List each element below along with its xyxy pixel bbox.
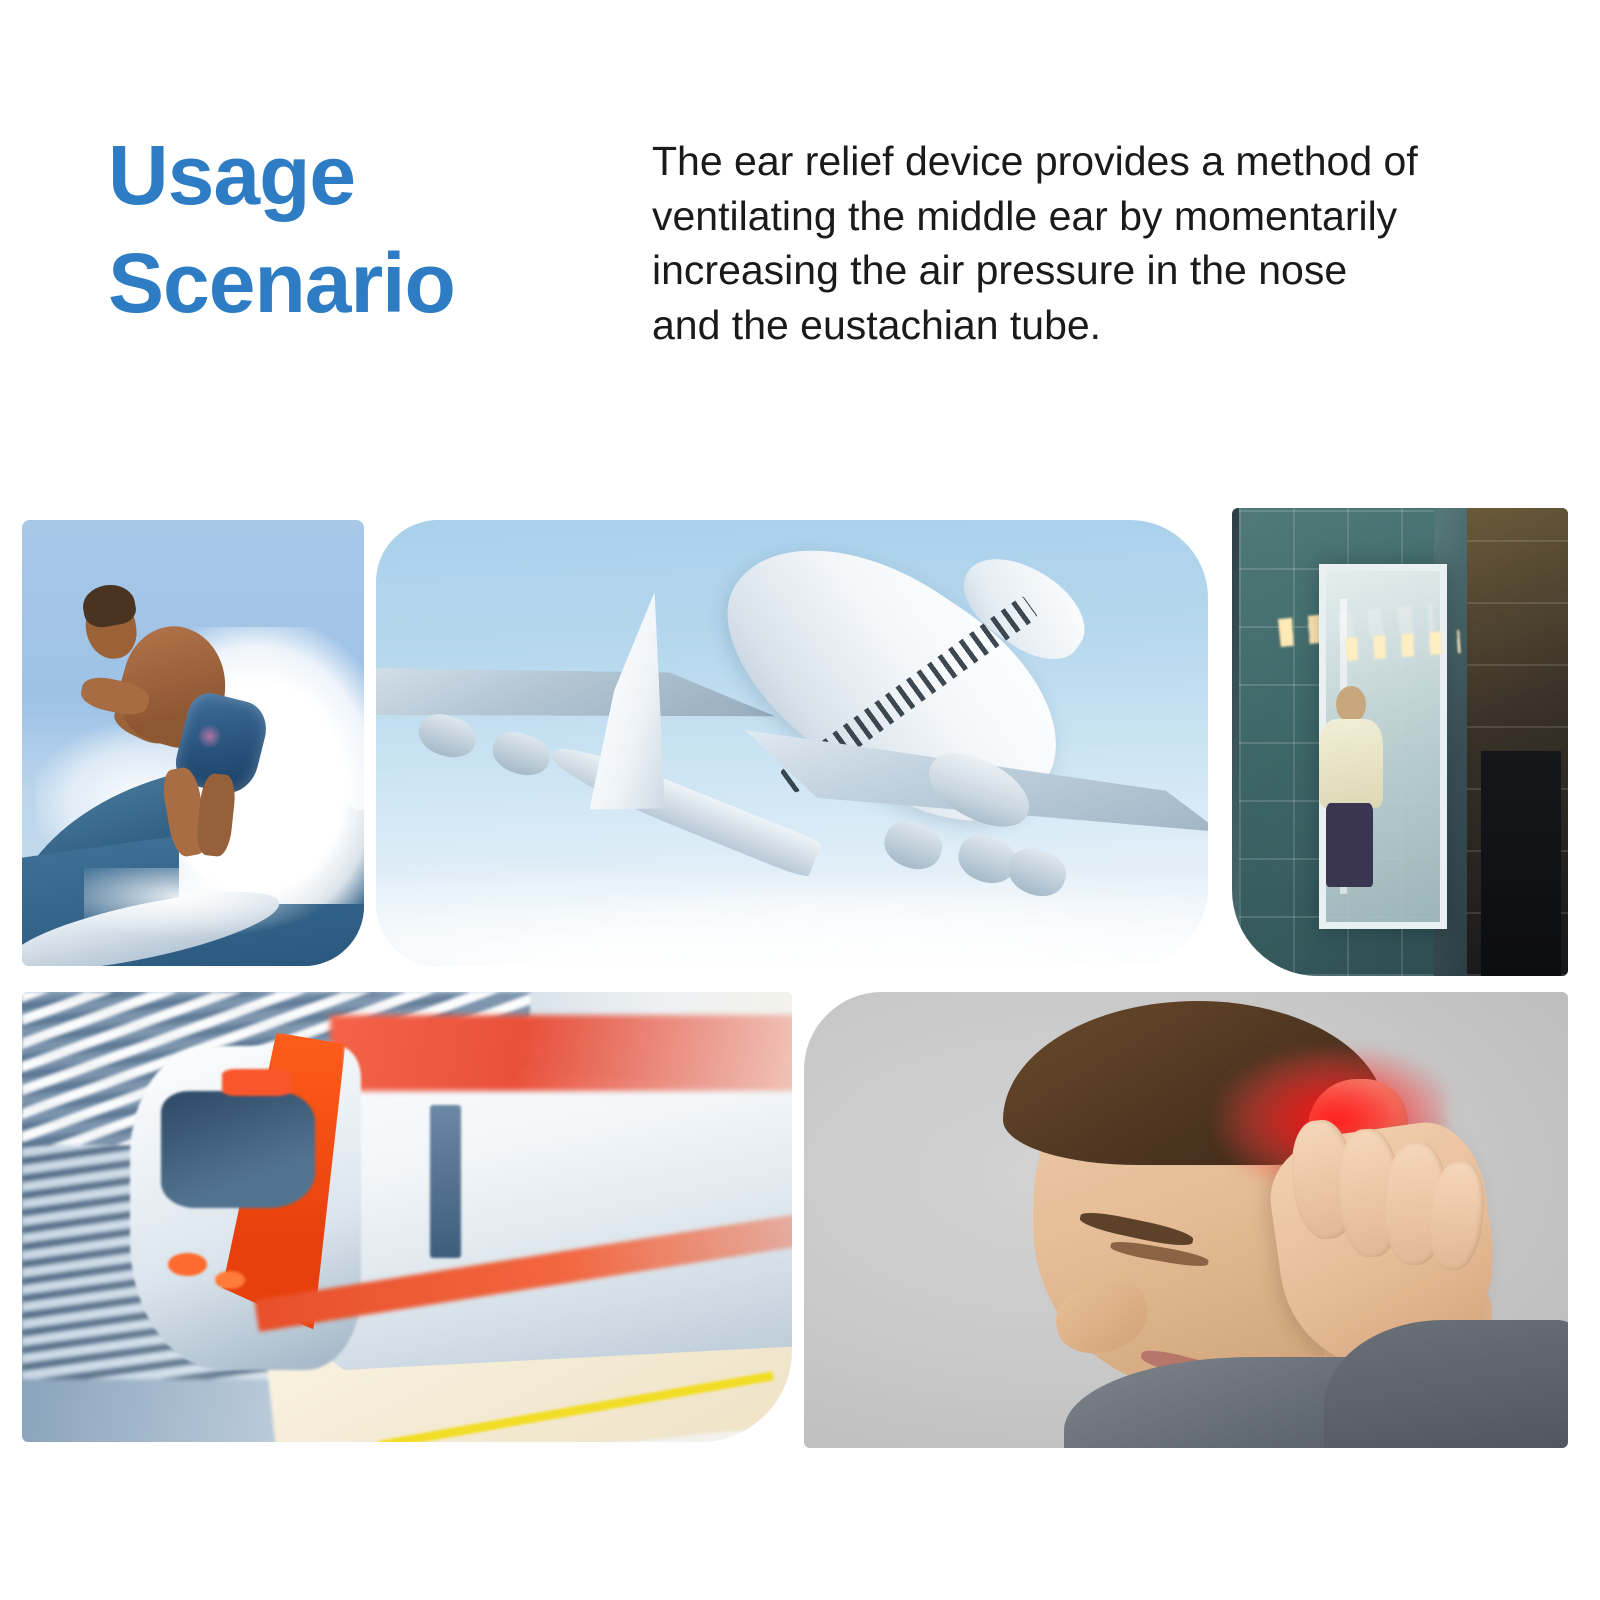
surfing-illustration	[22, 520, 364, 966]
elevator-illustration	[1232, 508, 1568, 976]
glass-elevator-photo	[1232, 508, 1568, 976]
airplane-illustration	[376, 520, 1208, 966]
airplane-in-flight-photo	[376, 520, 1208, 966]
man-with-ear-pain-photo	[804, 992, 1568, 1448]
high-speed-train-photo	[22, 992, 792, 1442]
usage-scenario-image-collage	[0, 0, 1600, 1600]
surfer-riding-wave-photo	[22, 520, 364, 966]
ear-pain-illustration	[804, 992, 1568, 1448]
train-illustration	[22, 992, 792, 1442]
